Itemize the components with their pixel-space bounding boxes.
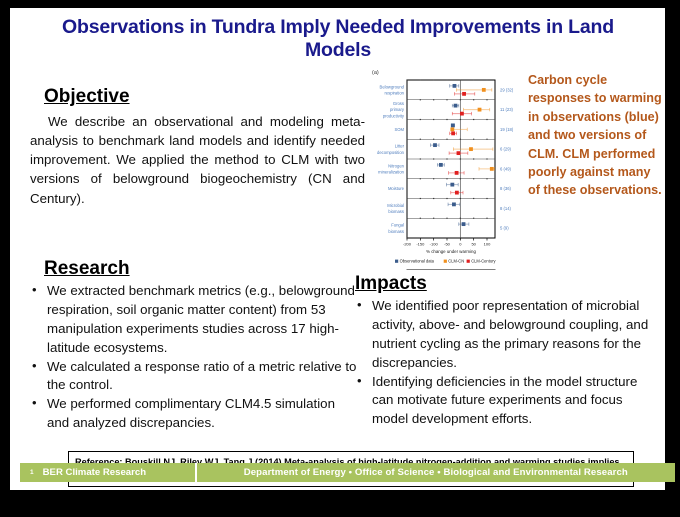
footer-left-label: BER Climate Research <box>43 467 146 478</box>
svg-text:0: 0 <box>459 242 462 247</box>
svg-text:-50: -50 <box>444 242 451 247</box>
page-number: 1 <box>30 469 34 476</box>
research-section: Research We extracted benchmark metrics … <box>30 258 360 433</box>
objective-heading: Objective <box>44 86 130 108</box>
research-bullet-list: We extracted benchmark metrics (e.g., be… <box>30 282 360 433</box>
svg-text:decomposition: decomposition <box>377 150 405 155</box>
svg-text:8 (36): 8 (36) <box>500 186 512 191</box>
svg-text:biomass: biomass <box>388 229 404 234</box>
svg-text:Gross: Gross <box>393 101 404 106</box>
impacts-heading: Impacts <box>355 273 427 295</box>
svg-text:Microbial: Microbial <box>387 203 404 208</box>
svg-text:-100: -100 <box>430 242 439 247</box>
impacts-bullet-list: We identified poor representation of mic… <box>355 297 660 429</box>
svg-text:29 (32): 29 (32) <box>500 87 514 92</box>
svg-text:Belowground: Belowground <box>380 84 405 89</box>
list-item: We extracted benchmark metrics (e.g., be… <box>30 282 360 358</box>
svg-text:6 (29): 6 (29) <box>500 147 512 152</box>
svg-text:primary: primary <box>390 107 405 112</box>
svg-text:5 (9): 5 (9) <box>500 226 509 231</box>
svg-text:CLM-Century: CLM-Century <box>471 259 496 264</box>
impacts-section: Impacts We identified poor representatio… <box>355 273 660 429</box>
page-title: Observations in Tundra Imply Needed Impr… <box>38 16 638 61</box>
footer-bar: 1 BER Climate Research Department of Ene… <box>20 463 675 482</box>
footer-left: 1 BER Climate Research <box>20 463 195 482</box>
svg-text:-200: -200 <box>403 242 412 247</box>
research-heading: Research <box>44 258 130 280</box>
svg-text:Nitrogen: Nitrogen <box>388 163 404 168</box>
list-item: Identifying deficiencies in the model st… <box>355 373 660 430</box>
svg-text:100: 100 <box>484 242 491 247</box>
svg-text:Litter: Litter <box>395 144 405 149</box>
chart-svg: Belowgroundrespiration29 (32)Grossprimar… <box>367 70 535 270</box>
svg-text:19 (18): 19 (18) <box>500 127 514 132</box>
svg-text:6 (49): 6 (49) <box>500 166 512 171</box>
svg-text:50: 50 <box>471 242 476 247</box>
svg-text:biomass: biomass <box>388 209 404 214</box>
svg-text:CLM-CN: CLM-CN <box>448 259 464 264</box>
list-item: We performed complimentary CLM4.5 simula… <box>30 395 360 433</box>
svg-text:-150: -150 <box>416 242 425 247</box>
svg-text:11 (23): 11 (23) <box>500 107 514 112</box>
objective-body: We describe an observational and modelin… <box>30 112 365 208</box>
footer-right-label: Department of Energy • Office of Science… <box>197 467 675 478</box>
slide-frame: Observations in Tundra Imply Needed Impr… <box>0 0 680 517</box>
svg-text:Observational data: Observational data <box>400 259 435 264</box>
list-item: We calculated a response ratio of a metr… <box>30 358 360 396</box>
svg-text:Moisture: Moisture <box>388 186 405 191</box>
svg-text:respiration: respiration <box>384 91 404 96</box>
svg-text:% change under warming: % change under warming <box>426 249 476 254</box>
svg-text:productivity: productivity <box>383 113 405 118</box>
objective-section: Objective We describe an observational a… <box>30 86 365 208</box>
slide-canvas: Observations in Tundra Imply Needed Impr… <box>10 8 665 509</box>
list-item: We identified poor representation of mic… <box>355 297 660 373</box>
svg-text:8 (14): 8 (14) <box>500 206 512 211</box>
bottom-black-bar <box>0 490 680 517</box>
figure-caption: Carbon cycle responses to warming in obs… <box>528 71 663 200</box>
svg-text:Fungal: Fungal <box>391 223 404 228</box>
svg-text:mineralization: mineralization <box>378 170 405 175</box>
forest-plot-figure: (a) Belowgroundrespiration29 (32)Grosspr… <box>367 70 535 270</box>
svg-text:SOM: SOM <box>394 127 404 132</box>
